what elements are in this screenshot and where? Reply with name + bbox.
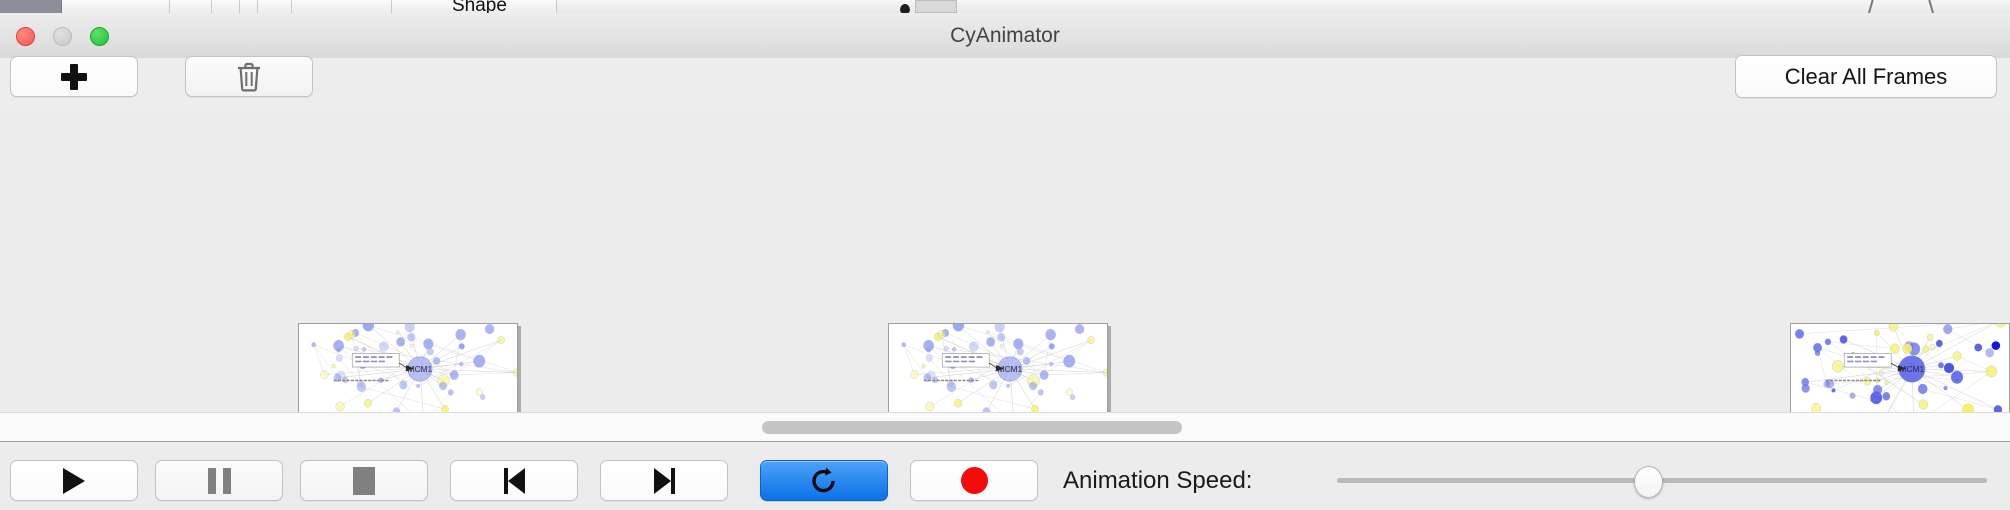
- background-window-sliver: Shape: [0, 0, 2010, 14]
- record-button[interactable]: [910, 460, 1038, 501]
- record-icon: [961, 467, 988, 494]
- bg-tab: [258, 0, 292, 13]
- plus-icon: [61, 64, 87, 90]
- clear-all-frames-button[interactable]: Clear All Frames: [1735, 55, 1997, 98]
- delete-frame-button[interactable]: [185, 56, 313, 97]
- bg-shape-label: Shape: [452, 0, 507, 14]
- add-frame-button[interactable]: [10, 56, 138, 97]
- bg-tab-selected: [0, 0, 62, 13]
- skip-backward-icon: [504, 468, 525, 494]
- skip-forward-icon: [654, 468, 675, 494]
- bg-curve-right: [1928, 0, 1953, 14]
- pause-icon: [208, 468, 231, 494]
- animation-speed-label: Animation Speed:: [1063, 460, 1252, 501]
- bg-tab: [292, 0, 392, 13]
- bg-field: [915, 0, 957, 13]
- next-frame-button[interactable]: [600, 460, 728, 501]
- timeline-panel[interactable]: MCM1 MCM1 MCM1 2131415161718 Seconds: [0, 110, 2010, 412]
- timeline-frame-thumbnail[interactable]: MCM1: [888, 323, 1108, 412]
- timeline-frame-thumbnail[interactable]: MCM1: [1790, 323, 2010, 412]
- loop-icon: [809, 466, 839, 496]
- loop-button[interactable]: [760, 460, 888, 501]
- timeline-frame-thumbnail[interactable]: MCM1: [298, 323, 518, 412]
- bg-tab: [62, 0, 170, 13]
- bg-tab: [240, 0, 258, 13]
- trash-icon: [236, 62, 262, 92]
- play-icon: [63, 468, 85, 494]
- pause-button[interactable]: [155, 460, 283, 501]
- timeline-scrollbar[interactable]: [0, 412, 2010, 442]
- bg-tab: [170, 0, 212, 13]
- timeline-scrollbar-thumb[interactable]: [762, 421, 1182, 434]
- bg-tab: [212, 0, 240, 13]
- previous-frame-button[interactable]: [450, 460, 578, 501]
- stop-button[interactable]: [300, 460, 428, 501]
- window-title: CyAnimator: [0, 13, 2010, 58]
- animation-speed-slider-thumb[interactable]: [1634, 466, 1663, 498]
- cyanimator-window: Shape CyAnimator Clear All Frames MCM1 M…: [0, 0, 2010, 510]
- bg-curve-left: [1868, 0, 1893, 14]
- title-bar: CyAnimator: [0, 13, 2010, 59]
- stop-icon: [353, 467, 375, 495]
- play-button[interactable]: [10, 460, 138, 501]
- clear-all-frames-label: Clear All Frames: [1785, 64, 1948, 90]
